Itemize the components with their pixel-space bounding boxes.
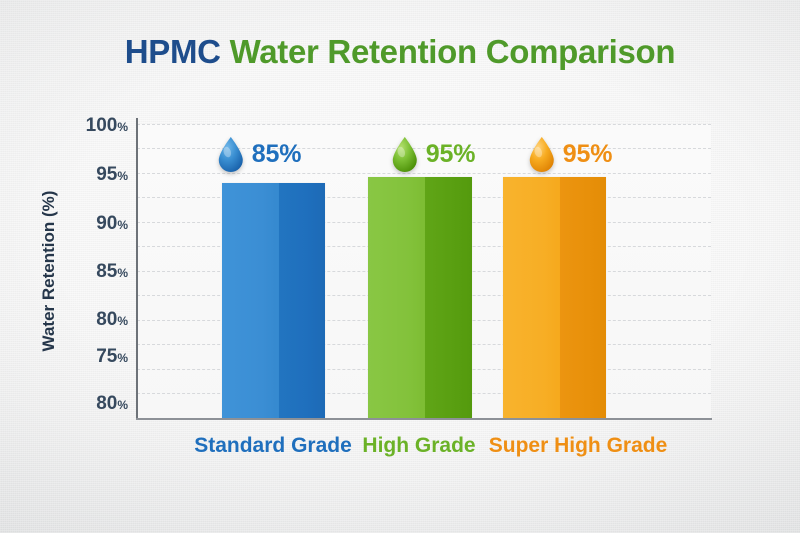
y-tick-value: 95: [96, 164, 117, 185]
y-axis-title: Water Retention (%): [39, 191, 59, 352]
water-drop-icon: [217, 136, 245, 172]
y-tick-label: 80%: [96, 309, 128, 331]
category-label-super-high-grade: Super High Grade: [489, 434, 668, 458]
y-tick-label: 85%: [96, 261, 128, 283]
y-tick-percent: %: [117, 314, 128, 328]
y-tick-percent: %: [117, 398, 128, 412]
bar-gradient-right: [279, 183, 325, 419]
y-tick-label: 80%: [96, 393, 128, 415]
bar-super-high-grade[interactable]: [503, 177, 606, 419]
title-brand: HPMC: [125, 33, 221, 70]
x-axis-line: [136, 418, 712, 420]
y-tick-value: 90: [96, 213, 117, 234]
y-tick-value: 100: [86, 115, 118, 136]
water-drop-icon: [528, 136, 556, 172]
category-label-high-grade: High Grade: [362, 434, 475, 458]
bar-gradient-right: [560, 177, 606, 419]
y-tick-label: 75%: [96, 346, 128, 368]
y-tick-percent: %: [117, 351, 128, 365]
y-tick-label: 100%: [86, 115, 128, 137]
y-tick-percent: %: [117, 218, 128, 232]
bar-value-label: 95%: [563, 140, 612, 169]
y-tick-label: 90%: [96, 213, 128, 235]
y-tick-value: 75: [96, 346, 117, 367]
bar-value-marker-high-grade: 95%: [391, 136, 475, 172]
bar-gradient-left: [368, 177, 425, 419]
y-tick-percent: %: [117, 266, 128, 280]
bar-value-marker-super-high-grade: 95%: [528, 136, 612, 172]
y-tick-percent: %: [117, 120, 128, 134]
y-tick-value: 85: [96, 261, 117, 282]
y-tick-percent: %: [117, 169, 128, 183]
y-axis-line: [136, 118, 138, 419]
y-tick-value: 80: [96, 309, 117, 330]
y-tick-label: 95%: [96, 164, 128, 186]
chart-canvas: HPMC Water Retention Comparison: [0, 0, 800, 533]
bar-gradient-right: [425, 177, 472, 419]
bar-gradient-left: [503, 177, 560, 419]
page-title: HPMC Water Retention Comparison: [0, 33, 800, 71]
bar-value-label: 85%: [252, 140, 301, 169]
category-label-standard-grade: Standard Grade: [194, 434, 352, 458]
bar-gradient-left: [222, 183, 279, 419]
bar-value-label: 95%: [426, 140, 475, 169]
bar-high-grade[interactable]: [368, 177, 472, 419]
water-drop-icon: [391, 136, 419, 172]
bar-standard-grade[interactable]: [222, 183, 325, 419]
bar-value-marker-standard-grade: 85%: [217, 136, 301, 172]
title-rest: Water Retention Comparison: [230, 33, 676, 70]
y-tick-value: 80: [96, 393, 117, 414]
